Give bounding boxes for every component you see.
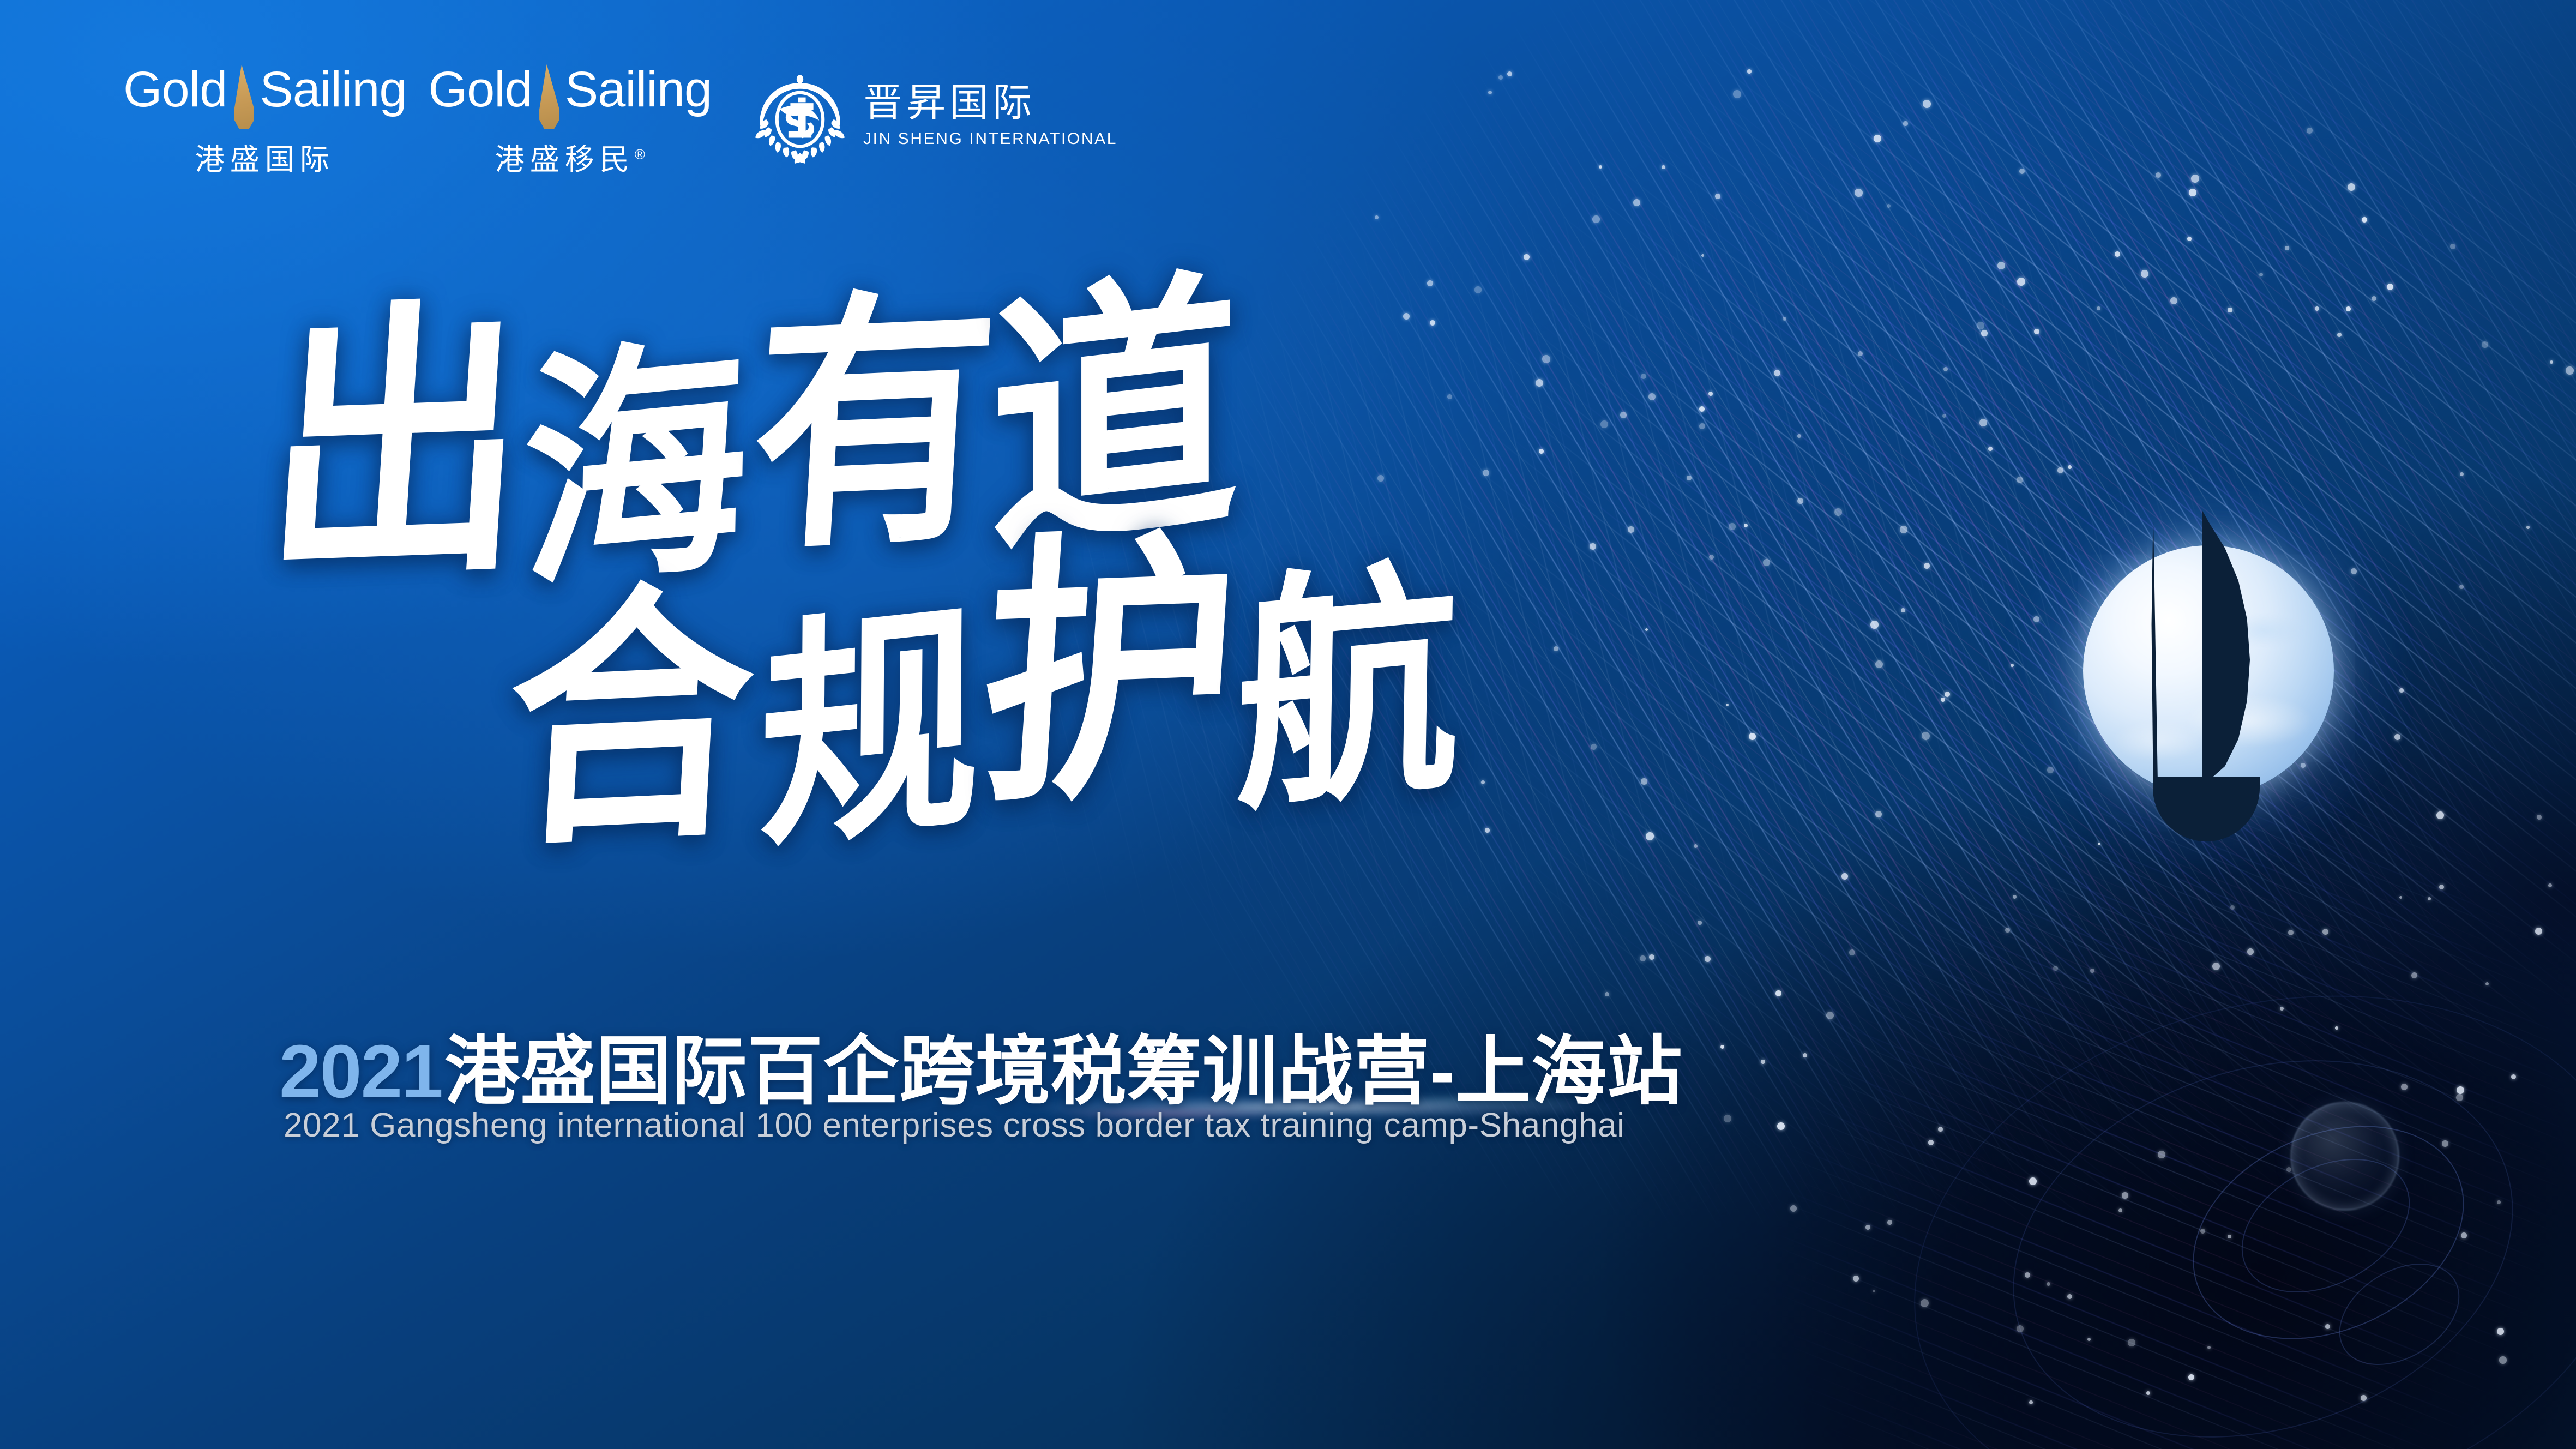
registered-mark: ® (635, 146, 645, 163)
laurel-wreath-s-monogram-icon (752, 68, 848, 164)
headline-char: 航 (1235, 568, 1456, 810)
logo-chinese-name: 港盛移民® (429, 135, 712, 178)
logo-chinese-text: 港盛移民 (495, 143, 635, 176)
logo-latin-left: Gold (429, 64, 532, 115)
subtitle-chinese-text: 港盛国际百企跨境税筹训战营-上海站 (444, 1030, 1683, 1114)
event-banner: Gold Sailing 港盛国际 Gold Sailing 港盛移民® (0, 0, 2576, 1449)
headline-line-2: 合规护航 (504, 526, 1469, 840)
logo-chinese-name: 晋昇国际 (863, 83, 1117, 123)
logo-latin-right: Sailing (260, 64, 406, 115)
gold-sail-icon (538, 64, 559, 129)
logo-chinese-name: 港盛国际 (123, 135, 407, 178)
headline-char: 出 (260, 311, 529, 579)
hero-headline: 出海有道 合规护航 (273, 316, 1745, 960)
logo-bar: Gold Sailing 港盛国际 Gold Sailing 港盛移民® (123, 64, 1117, 178)
logo-latin-right: Sailing (565, 64, 712, 115)
gold-sail-icon (232, 64, 254, 129)
headline-char: 规 (759, 608, 976, 850)
headline-char: 合 (502, 591, 754, 847)
logo-english-name: JIN SHENG INTERNATIONAL (863, 130, 1117, 148)
headline-char: 海 (521, 345, 744, 590)
logo-jin-sheng-international[interactable]: 晋昇国际 JIN SHENG INTERNATIONAL (752, 64, 1117, 164)
headline-char: 护 (974, 540, 1239, 803)
subtitle-english: 2021 Gangsheng international 100 enterpr… (284, 1106, 1625, 1145)
subtitle-chinese: 2021港盛国际百企跨境税筹训战营-上海站 (279, 1010, 1683, 1119)
subtitle-year: 2021 (279, 1030, 442, 1114)
logo-gold-sailing-gangsheng-immigration[interactable]: Gold Sailing 港盛移民® (429, 64, 712, 178)
headline-char: 有 (747, 298, 997, 550)
logo-gold-sailing-gangsheng-international[interactable]: Gold Sailing 港盛国际 (123, 64, 407, 178)
logo-latin-left: Gold (123, 64, 227, 115)
